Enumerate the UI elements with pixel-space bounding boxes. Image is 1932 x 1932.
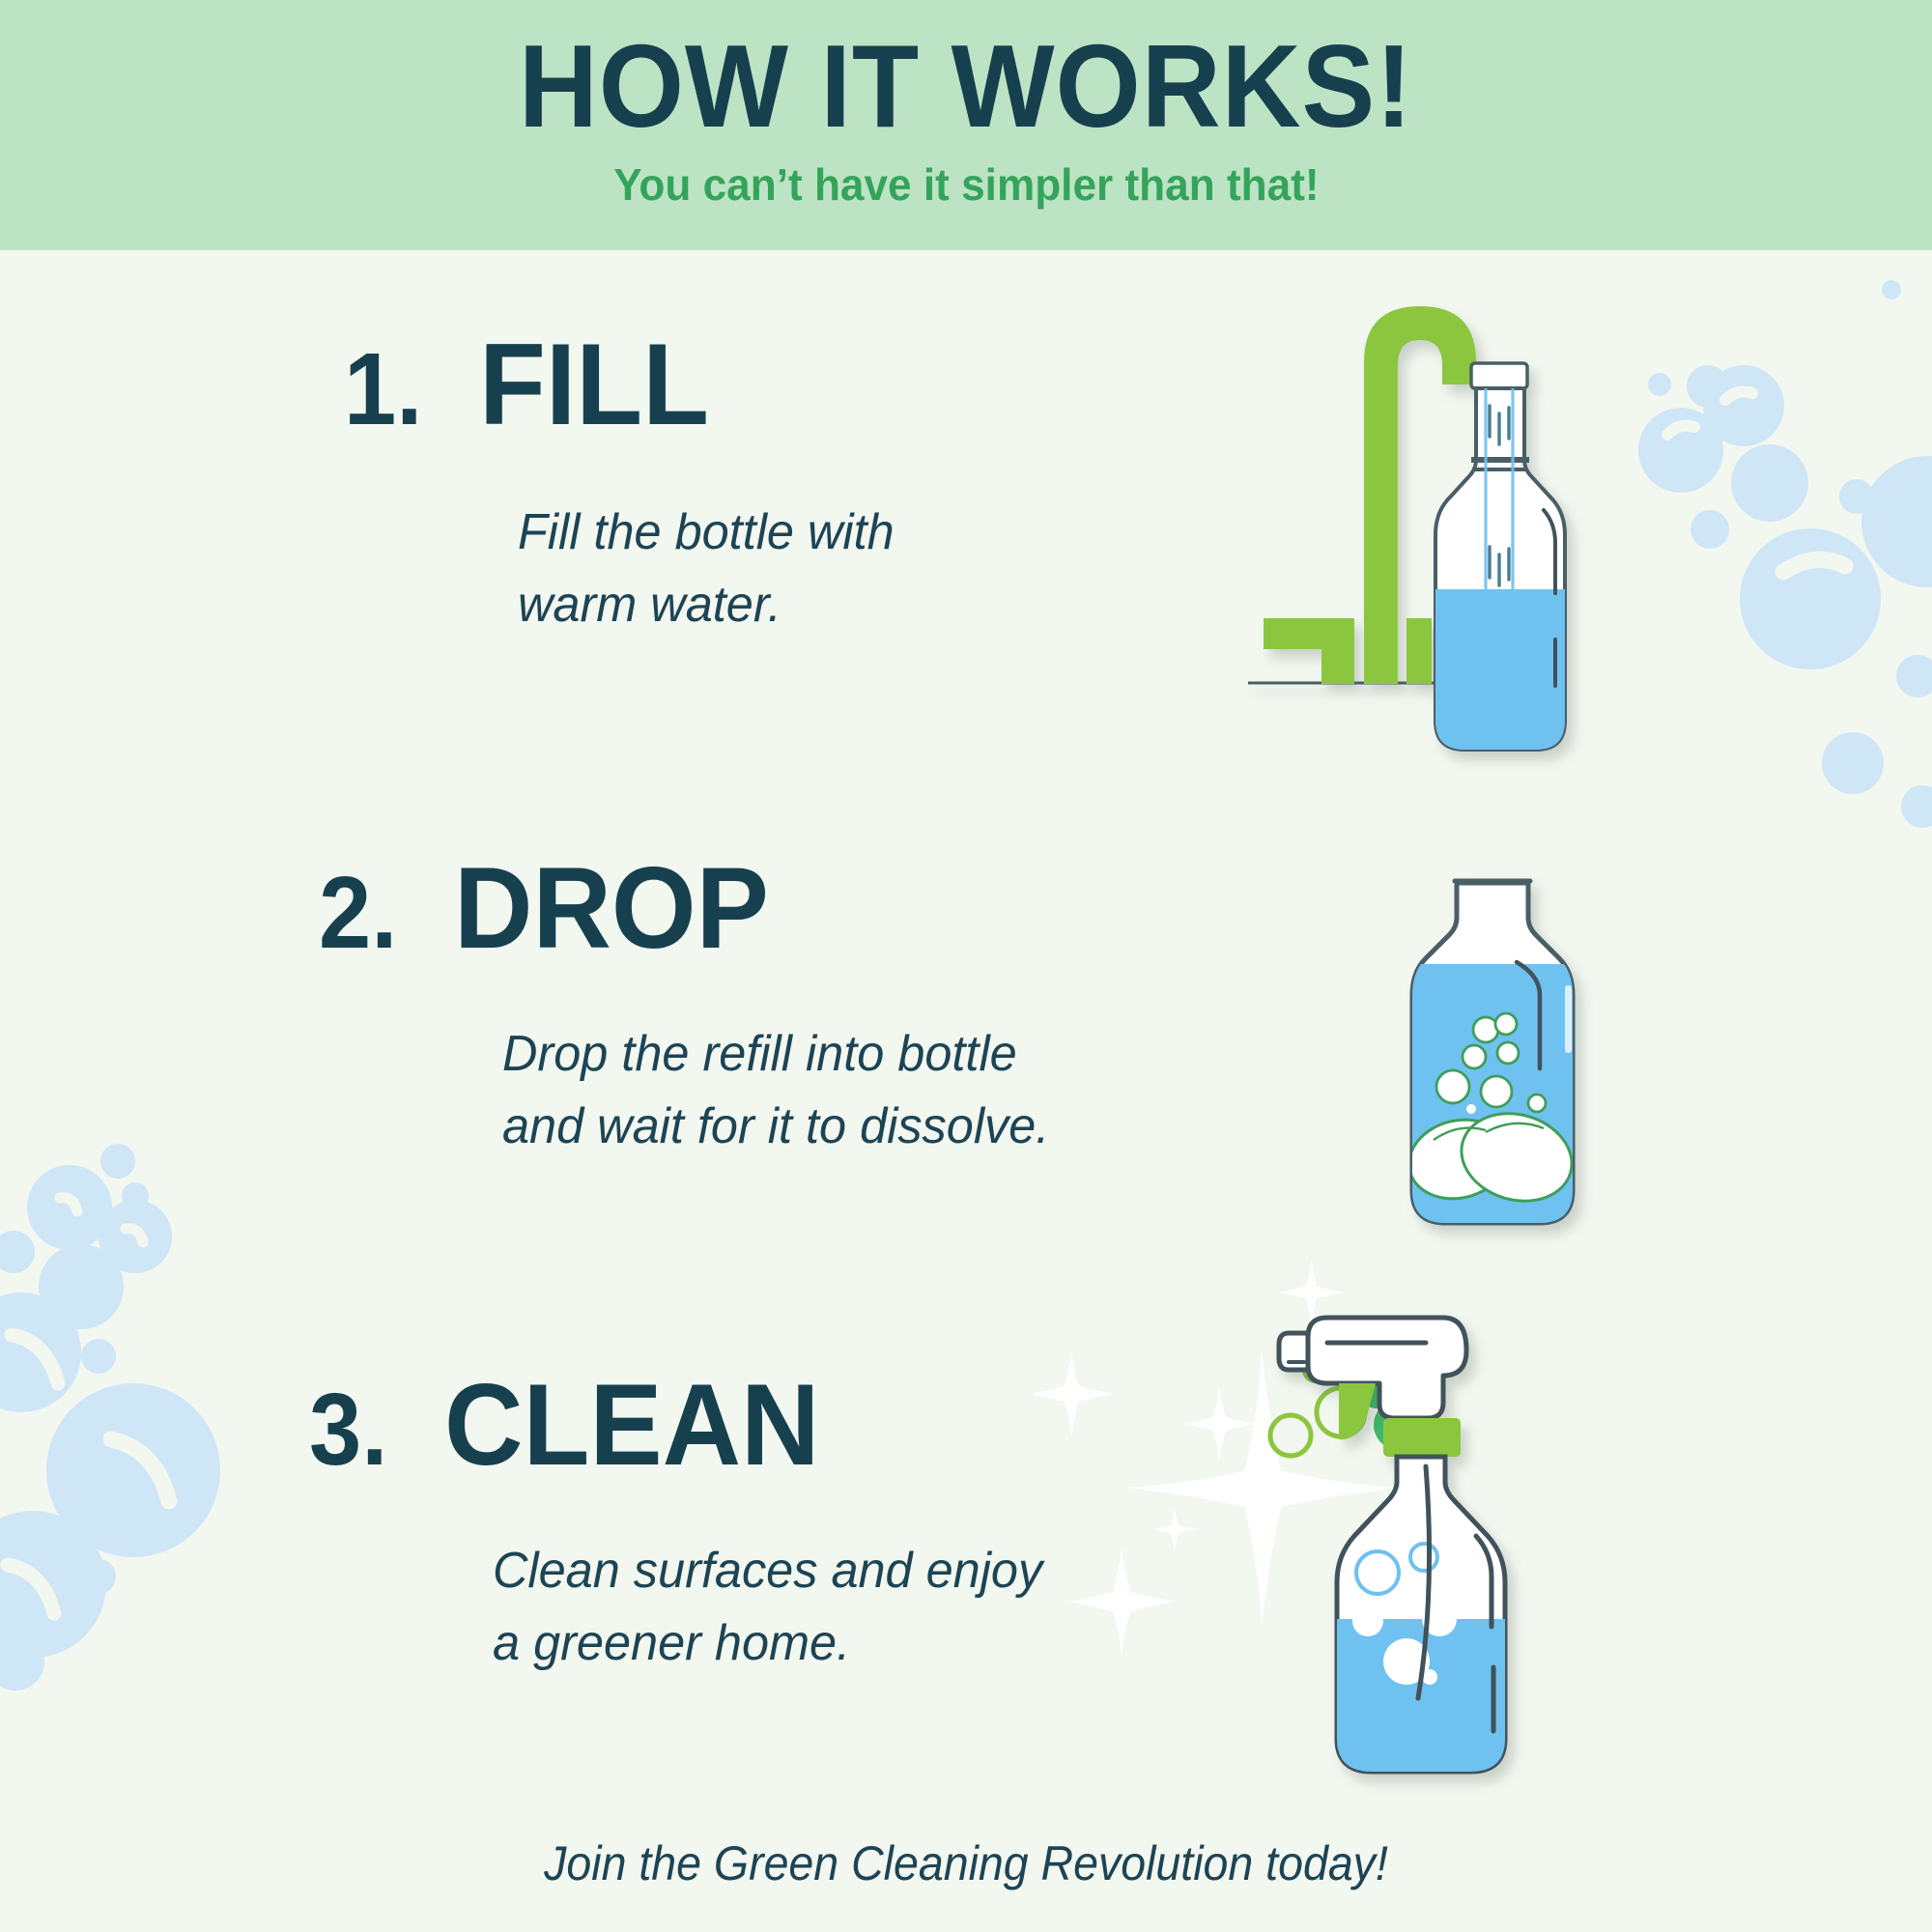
footer-cta: Join the Green Cleaning Revolution today… <box>68 1835 1864 1891</box>
faucet-filling-bottle-illustration <box>1236 270 1642 792</box>
step-number: 1. <box>344 338 422 440</box>
step-description: Drop the refill into bottle and wait for… <box>502 1018 1049 1164</box>
step-title: CLEAN <box>444 1367 820 1483</box>
step-number: 2. <box>319 862 397 964</box>
bottle-with-dissolving-tablets-illustration <box>1372 850 1613 1256</box>
step-description: Fill the bottle with warm water. <box>518 497 895 642</box>
step-fill: 1. FILL Fill the bottle with warm water. <box>344 327 906 642</box>
step-title: FILL <box>479 327 709 442</box>
step-heading: 2. DROP <box>319 850 1066 966</box>
spray-bottle-with-sparkles-illustration <box>1034 1246 1633 1845</box>
step-heading: 1. FILL <box>344 327 906 442</box>
page-subtitle: You can’t have it simpler than that! <box>613 162 1319 207</box>
header-band: HOW IT WORKS! You can’t have it simpler … <box>0 0 1932 250</box>
infographic-page: HOW IT WORKS! You can’t have it simpler … <box>0 0 1932 1932</box>
step-title: DROP <box>454 850 769 966</box>
step-drop: 2. DROP Drop the refill into bottle and … <box>319 850 1066 1164</box>
step-description: Clean surfaces and enjoy a greener home. <box>493 1535 1042 1681</box>
step-clean: 3. CLEAN Clean surfaces and enjoy a gree… <box>309 1367 1060 1681</box>
page-title: HOW IT WORKS! <box>519 27 1413 145</box>
step-heading: 3. CLEAN <box>309 1367 1060 1483</box>
step-number: 3. <box>309 1378 387 1481</box>
